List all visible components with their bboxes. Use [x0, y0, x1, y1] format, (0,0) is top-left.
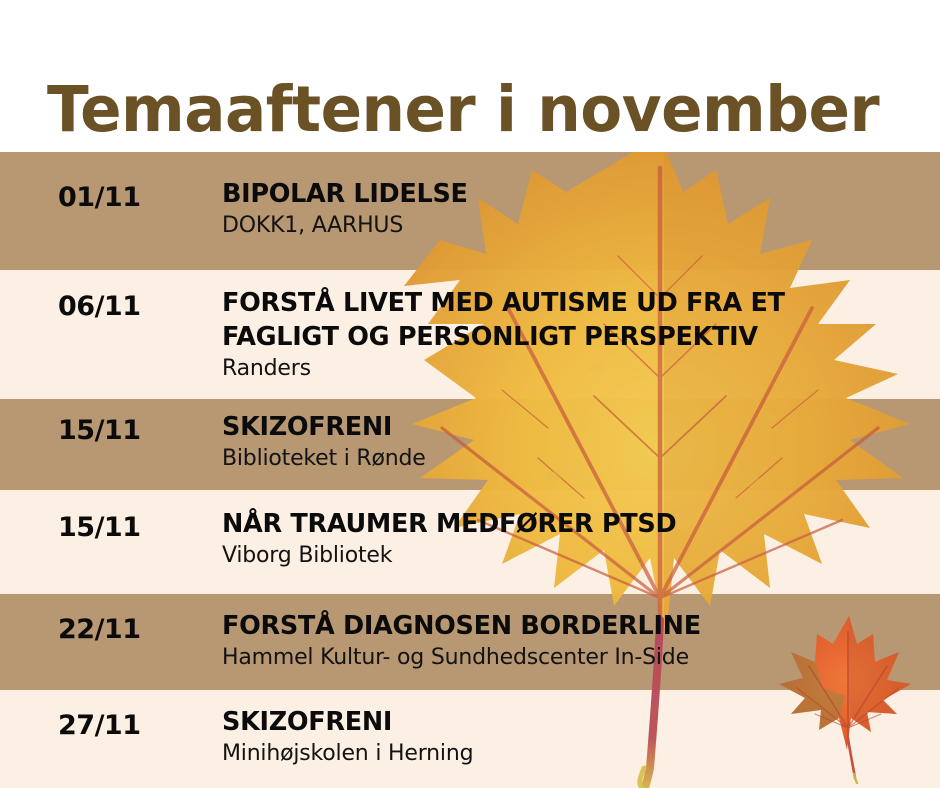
row-stripe-5	[0, 690, 940, 788]
row-stripe-2	[0, 399, 940, 490]
poster-canvas: Temaaftener i november 01/11 BIPOLAR LID…	[0, 0, 940, 788]
page-title: Temaaftener i november	[47, 70, 879, 150]
row-stripe-1	[0, 270, 940, 399]
row-stripe-3	[0, 490, 940, 594]
row-stripe-0	[0, 152, 940, 270]
row-stripe-4	[0, 594, 940, 690]
